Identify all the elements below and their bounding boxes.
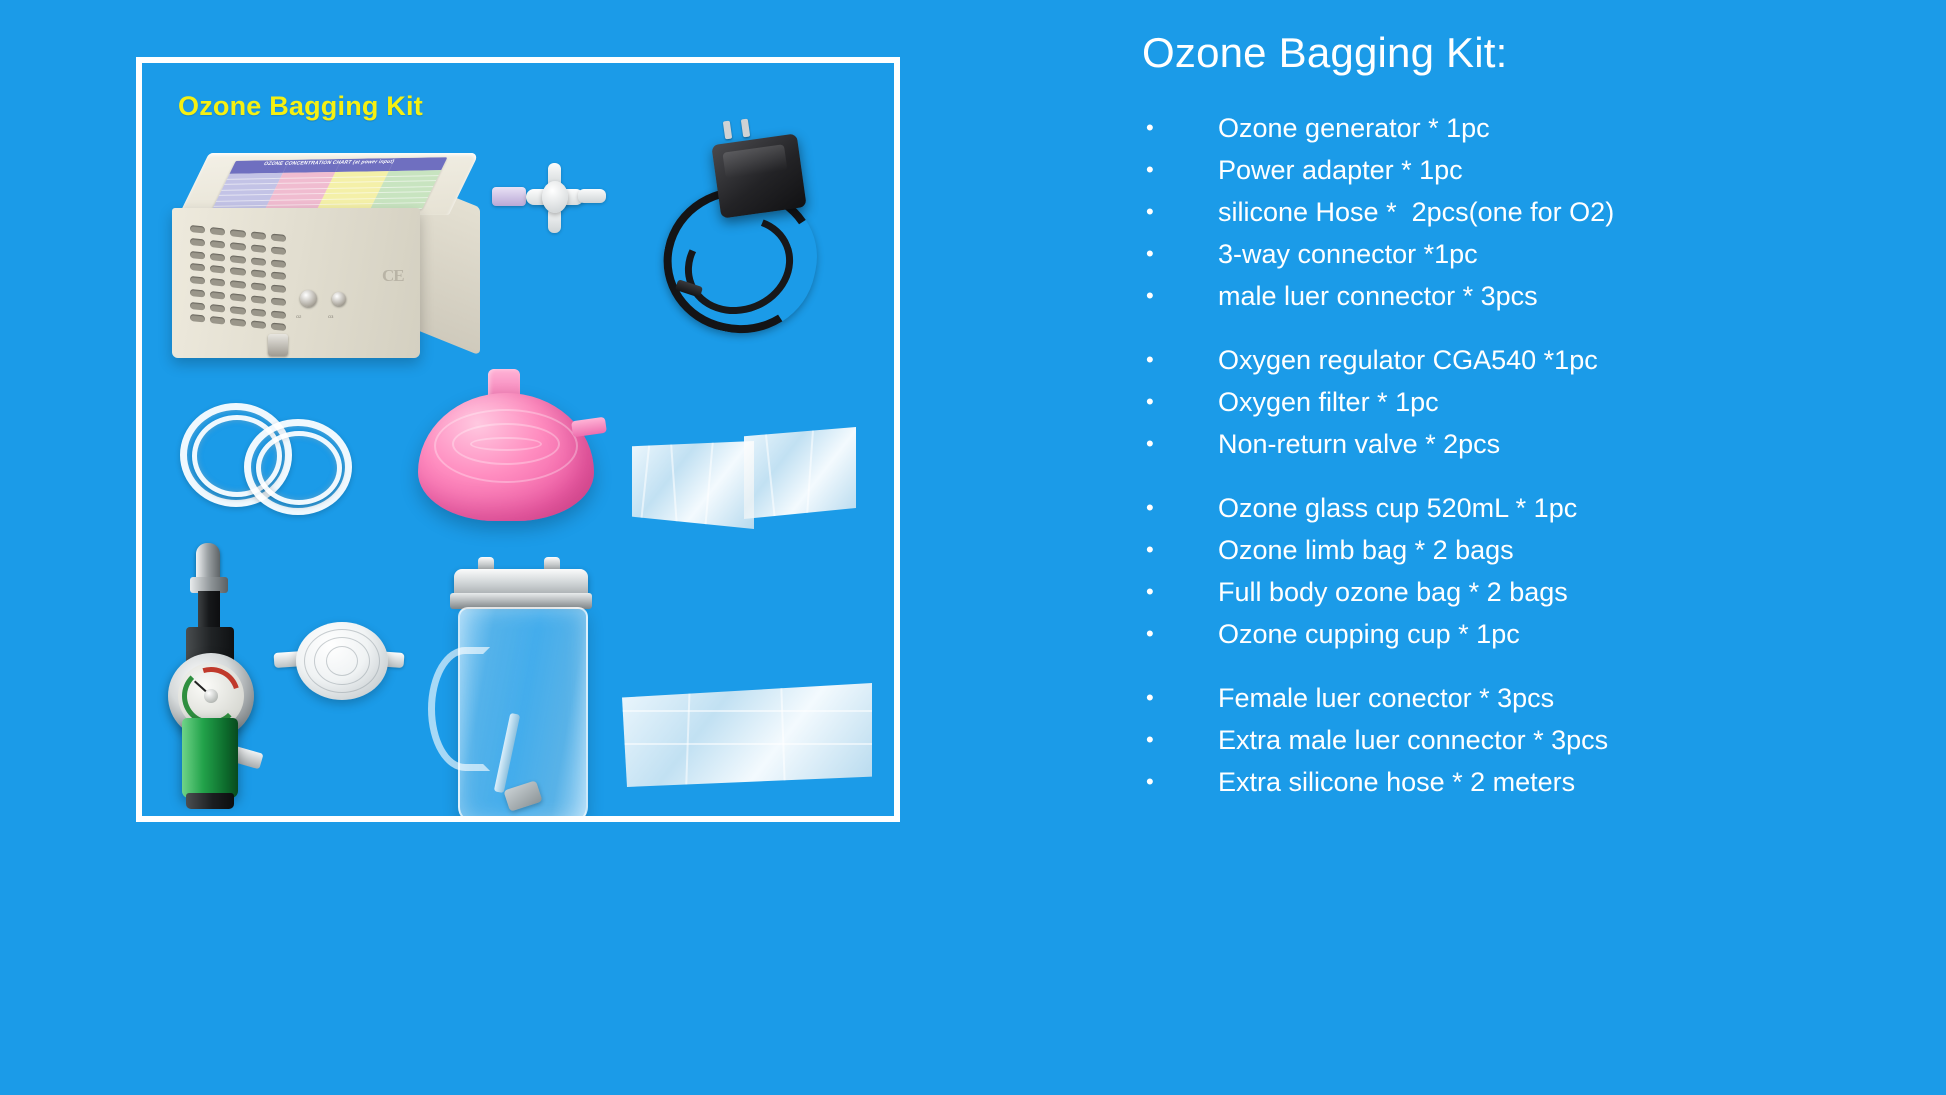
spec-item-label: Oxygen regulator CGA540 *1pc bbox=[1218, 342, 1598, 378]
page-title: Ozone Bagging Kit: bbox=[1142, 30, 1922, 76]
spec-item-label: Power adapter * 1pc bbox=[1218, 152, 1463, 188]
spec-item-label: male luer connector * 3pcs bbox=[1218, 278, 1538, 314]
spec-line: • 3-way connector *1pc bbox=[1142, 236, 1922, 272]
spec-item-label: Ozone glass cup 520mL * 1pc bbox=[1218, 490, 1577, 526]
generator-outlet-port bbox=[268, 334, 288, 356]
bullet-icon: • bbox=[1142, 426, 1218, 462]
generator-knob-right bbox=[332, 292, 346, 306]
spec-item-label: Ozone cupping cup * 1pc bbox=[1218, 616, 1520, 652]
limb-bag-left-panel bbox=[632, 441, 754, 529]
spec-item-label: Female luer conector * 3pcs bbox=[1218, 680, 1554, 716]
male-luer-connector bbox=[810, 223, 840, 279]
bullet-icon: • bbox=[1142, 194, 1218, 230]
spec-item-label: silicone Hose * 2pcs(one for O2) bbox=[1218, 194, 1614, 230]
bullet-icon: • bbox=[1142, 532, 1218, 568]
three-way-hub bbox=[542, 181, 568, 213]
cupping-cup-ring bbox=[470, 437, 542, 451]
bullet-icon: • bbox=[1142, 616, 1218, 652]
ozone-generator-image: OZONE CONCENTRATION CHART (at power inpu… bbox=[172, 153, 482, 383]
oxygen-filter-image bbox=[282, 608, 402, 718]
product-photo-panel: Ozone Bagging Kit OZONE CONCENTRATION CH… bbox=[136, 57, 900, 822]
specification-panel: Ozone Bagging Kit: • Ozone generator * 1… bbox=[1142, 30, 1922, 828]
spec-line: • Oxygen regulator CGA540 *1pc bbox=[1142, 342, 1922, 378]
non-return-valve bbox=[722, 619, 752, 675]
spec-group-3: • Ozone glass cup 520mL * 1pc • Ozone li… bbox=[1142, 490, 1922, 652]
generator-knob-left bbox=[300, 290, 317, 307]
male-luer-connector bbox=[502, 227, 532, 283]
adapter-prong-right bbox=[741, 119, 750, 138]
non-return-valve bbox=[682, 619, 712, 675]
spec-line: • Non-return valve * 2pcs bbox=[1142, 426, 1922, 462]
cupping-cup-dome bbox=[418, 393, 594, 521]
spec-item-label: Oxygen filter * 1pc bbox=[1218, 384, 1439, 420]
spec-group-1: • Ozone generator * 1pc • Power adapter … bbox=[1142, 110, 1922, 314]
silicone-hose-coils-image bbox=[172, 393, 392, 523]
full-body-ozone-bag-image bbox=[622, 683, 872, 793]
three-way-arm-right bbox=[578, 189, 606, 203]
bullet-icon: • bbox=[1142, 680, 1218, 716]
adapter-prong-left bbox=[723, 121, 732, 140]
generator-concentration-chart bbox=[210, 157, 447, 213]
spec-item-label: Extra male luer connector * 3pcs bbox=[1218, 722, 1608, 758]
spec-line: • silicone Hose * 2pcs(one for O2) bbox=[1142, 194, 1922, 230]
spec-line: • Ozone generator * 1pc bbox=[1142, 110, 1922, 146]
glass-cup-handle bbox=[428, 647, 490, 771]
gauge-hub bbox=[204, 689, 218, 703]
photo-caption: Ozone Bagging Kit bbox=[178, 91, 423, 122]
regulator-base bbox=[186, 793, 234, 809]
male-luer-connector bbox=[860, 147, 890, 203]
cupping-cup-side-port bbox=[571, 417, 607, 438]
spec-line: • male luer connector * 3pcs bbox=[1142, 278, 1922, 314]
spec-item-label: 3-way connector *1pc bbox=[1218, 236, 1478, 272]
bullet-icon: • bbox=[1142, 490, 1218, 526]
generator-front-face: O2 O3 CE bbox=[172, 208, 420, 358]
spec-group-2: • Oxygen regulator CGA540 *1pc • Oxygen … bbox=[1142, 342, 1922, 462]
filter-ridge bbox=[326, 646, 358, 676]
male-luer-connector bbox=[766, 147, 796, 203]
spec-line: • Oxygen filter * 1pc bbox=[1142, 384, 1922, 420]
bullet-icon: • bbox=[1142, 764, 1218, 800]
male-luer-connector bbox=[814, 147, 844, 203]
male-luer-connector bbox=[334, 743, 396, 789]
spec-item-label: Ozone generator * 1pc bbox=[1218, 110, 1490, 146]
spec-item-label: Full body ozone bag * 2 bags bbox=[1218, 574, 1568, 610]
spec-line: • Female luer conector * 3pcs bbox=[1142, 680, 1922, 716]
generator-label-o3: O3 bbox=[328, 314, 333, 319]
three-way-purple-fitting bbox=[492, 187, 526, 206]
limb-bag-right-panel bbox=[744, 427, 856, 519]
full-body-bag-sheet bbox=[622, 683, 872, 787]
spec-line: • Ozone limb bag * 2 bags bbox=[1142, 532, 1922, 568]
silicone-hose-coil-right-inner bbox=[256, 431, 342, 505]
ozone-glass-cup-image bbox=[432, 563, 612, 822]
bullet-icon: • bbox=[1142, 574, 1218, 610]
regulator-flow-selector bbox=[182, 718, 238, 798]
bullet-icon: • bbox=[1142, 278, 1218, 314]
ozone-limb-bag-image bbox=[632, 423, 852, 543]
bullet-icon: • bbox=[1142, 152, 1218, 188]
spec-line: • Extra male luer connector * 3pcs bbox=[1142, 722, 1922, 758]
male-luer-connector bbox=[542, 229, 572, 285]
ozone-cupping-cup-image bbox=[412, 363, 602, 533]
male-luer-connector bbox=[856, 223, 886, 279]
male-luer-connector bbox=[278, 743, 340, 789]
spec-item-label: Extra silicone hose * 2 meters bbox=[1218, 764, 1575, 800]
male-luer-connector bbox=[582, 227, 612, 283]
generator-vent-grille bbox=[190, 225, 286, 333]
generator-label-o2: O2 bbox=[296, 314, 301, 319]
regulator-stem bbox=[198, 591, 220, 631]
oxygen-regulator-image bbox=[160, 543, 270, 811]
spec-line: • Full body ozone bag * 2 bags bbox=[1142, 574, 1922, 610]
male-luer-connector bbox=[762, 223, 792, 279]
bullet-icon: • bbox=[1142, 342, 1218, 378]
spec-line: • Ozone glass cup 520mL * 1pc bbox=[1142, 490, 1922, 526]
spec-line: • Ozone cupping cup * 1pc bbox=[1142, 616, 1922, 652]
filter-disc bbox=[296, 622, 388, 700]
spec-line: • Extra silicone hose * 2 meters bbox=[1142, 764, 1922, 800]
bullet-icon: • bbox=[1142, 384, 1218, 420]
spec-group-4: • Female luer conector * 3pcs • Extra ma… bbox=[1142, 680, 1922, 800]
bullet-icon: • bbox=[1142, 110, 1218, 146]
generator-ce-mark: CE bbox=[382, 266, 404, 286]
bullet-icon: • bbox=[1142, 236, 1218, 272]
bullet-icon: • bbox=[1142, 722, 1218, 758]
spec-line: • Power adapter * 1pc bbox=[1142, 152, 1922, 188]
spec-item-label: Ozone limb bag * 2 bags bbox=[1218, 532, 1514, 568]
spec-item-label: Non-return valve * 2pcs bbox=[1218, 426, 1500, 462]
